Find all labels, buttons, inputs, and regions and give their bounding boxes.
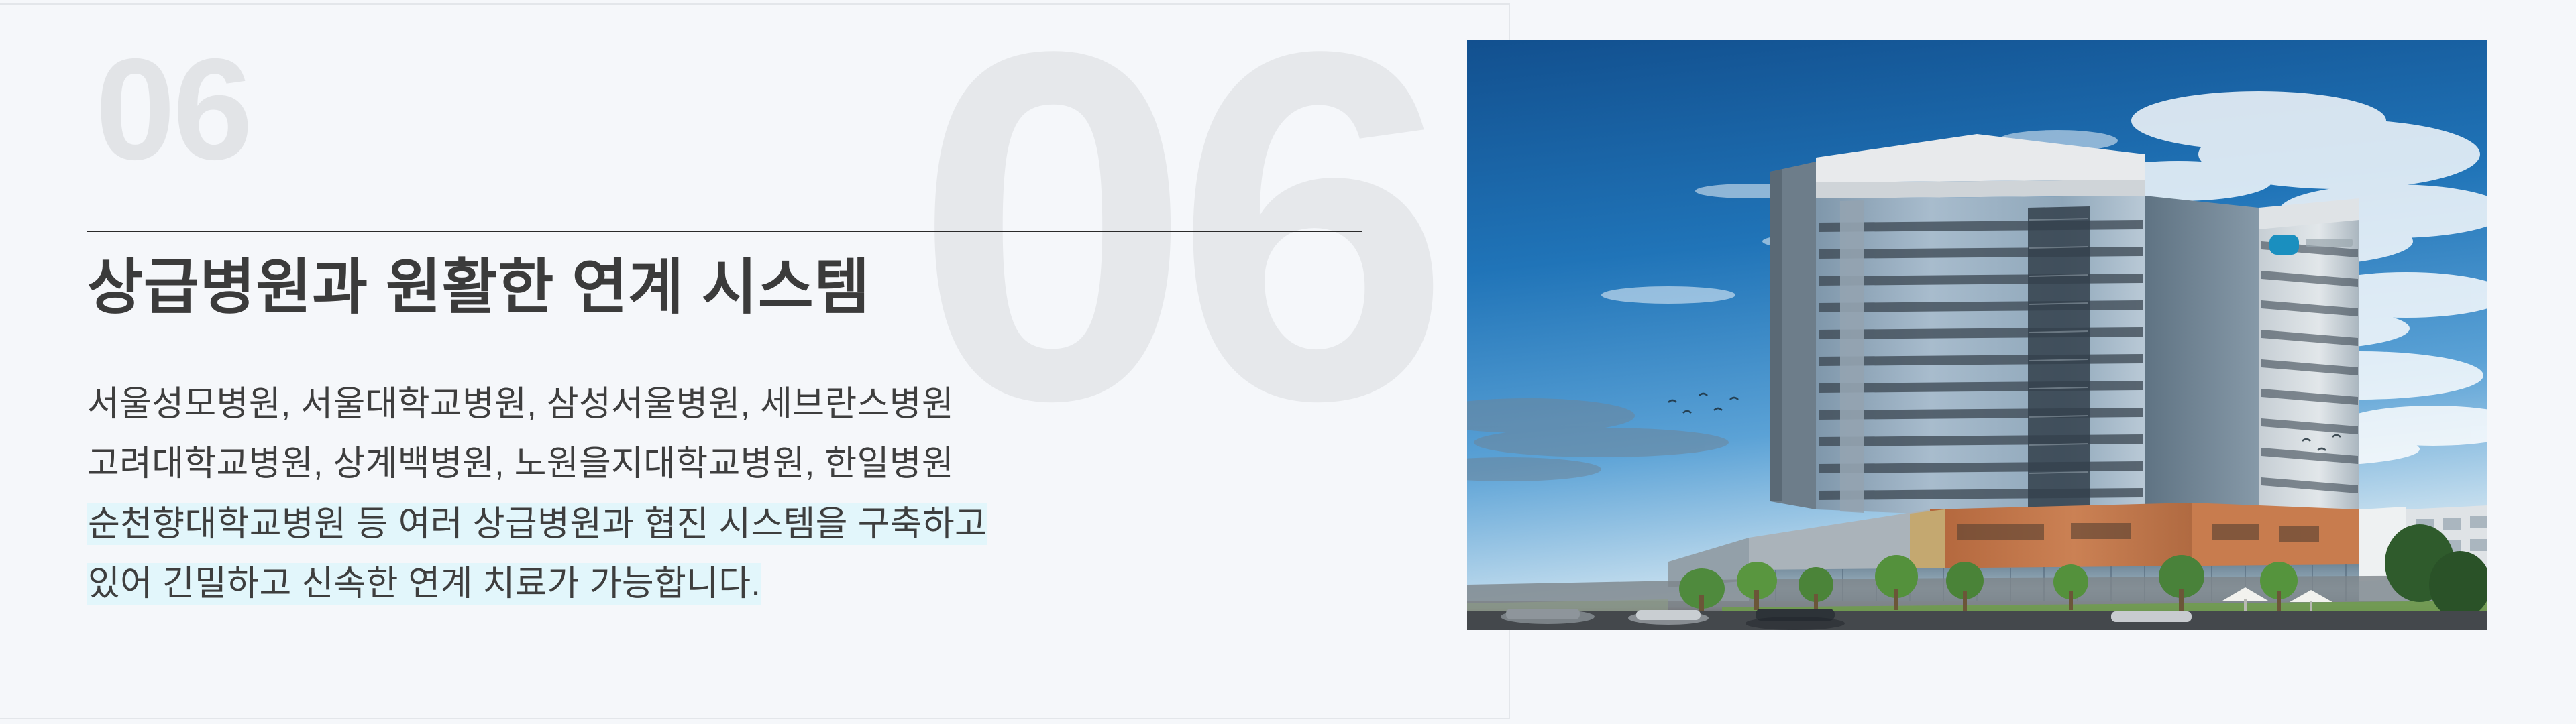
body-line-2: 고려대학교병원, 상계백병원, 노원을지대학교병원, 한일병원: [87, 434, 987, 494]
content-card: 06 06 상급병원과 원활한 연계 시스템 서울성모병원, 서울대학교병원, …: [0, 3, 1510, 719]
body-line-4: 있어 긴밀하고 신속한 연계 치료가 가능합니다.: [87, 554, 987, 614]
body-line-3: 순천향대학교병원 등 여러 상급병원과 협진 시스템을 구축하고: [87, 495, 987, 554]
body-line-4-text: 있어 긴밀하고 신속한 연계 치료가 가능합니다.: [87, 563, 761, 605]
watermark-number: 06: [915, 3, 1435, 474]
body-line-2-text: 고려대학교병원, 상계백병원, 노원을지대학교병원, 한일병원: [87, 444, 954, 483]
hospital-photo-illustration: [1467, 40, 2487, 630]
hospital-photo: [1467, 40, 2487, 630]
title-divider: [87, 231, 1362, 232]
body-line-1-text: 서울성모병원, 서울대학교병원, 삼성서울병원, 세브란스병원: [87, 385, 954, 424]
body-line-3-text: 순천향대학교병원 등 여러 상급병원과 협진 시스템을 구축하고: [87, 503, 987, 545]
body-paragraph: 서울성모병원, 서울대학교병원, 삼성서울병원, 세브란스병원 고려대학교병원,…: [87, 375, 987, 615]
slide-root: 06 06 상급병원과 원활한 연계 시스템 서울성모병원, 서울대학교병원, …: [0, 0, 2576, 724]
section-number: 06: [95, 37, 250, 181]
body-line-1: 서울성모병원, 서울대학교병원, 삼성서울병원, 세브란스병원: [87, 375, 987, 434]
page-title: 상급병원과 원활한 연계 시스템: [87, 251, 870, 325]
